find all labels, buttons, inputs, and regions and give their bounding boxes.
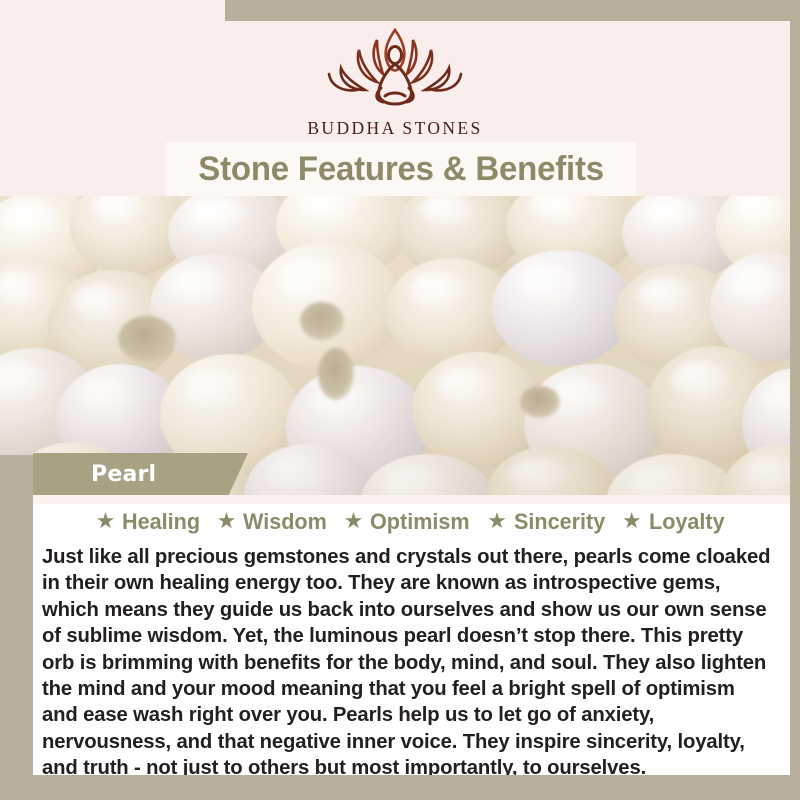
star-icon: ★ xyxy=(344,510,364,532)
star-icon: ★ xyxy=(217,510,237,532)
bottom-frame-bar xyxy=(0,775,800,800)
star-icon: ★ xyxy=(96,510,116,532)
title-plate: Stone Features & Benefits xyxy=(166,142,636,196)
left-frame-rail xyxy=(0,455,33,775)
stone-name-label: Pearl xyxy=(91,462,156,487)
benefit-label: Sincerity xyxy=(514,509,605,535)
pearl-photo xyxy=(0,196,790,495)
top-frame-band xyxy=(225,0,800,21)
right-frame-rail xyxy=(790,0,800,800)
benefit-item-healing: ★ Healing xyxy=(96,509,204,535)
benefit-item-sincerity: ★ Sincerity xyxy=(487,509,609,535)
photo-tone-layer xyxy=(0,196,790,495)
benefits-row: ★ Healing ★ Wisdom ★ Optimism ★ Sincerit… xyxy=(33,509,790,535)
benefit-label: Wisdom xyxy=(243,509,327,535)
benefit-item-wisdom: ★ Wisdom xyxy=(217,509,331,535)
benefit-label: Loyalty xyxy=(649,509,725,535)
stone-benefits-poster: BUDDHA STONES Stone Features & Benefits xyxy=(0,0,800,800)
star-icon: ★ xyxy=(487,510,507,532)
benefit-item-optimism: ★ Optimism xyxy=(344,509,475,535)
lotus-meditation-icon xyxy=(305,22,485,114)
benefit-item-loyalty: ★ Loyalty xyxy=(622,509,728,535)
description-card: ★ Healing ★ Wisdom ★ Optimism ★ Sincerit… xyxy=(33,495,790,775)
benefit-label: Healing xyxy=(122,509,200,535)
page-title: Stone Features & Benefits xyxy=(198,150,604,189)
description-text: Just like all precious gemstones and cry… xyxy=(42,544,771,782)
brand-wordmark: BUDDHA STONES xyxy=(307,118,482,139)
stone-name-banner: Pearl xyxy=(33,453,248,495)
benefit-label: Optimism xyxy=(370,509,470,535)
brand-logo: BUDDHA STONES xyxy=(0,22,790,139)
star-icon: ★ xyxy=(622,510,642,532)
card-top-tint xyxy=(33,495,790,504)
